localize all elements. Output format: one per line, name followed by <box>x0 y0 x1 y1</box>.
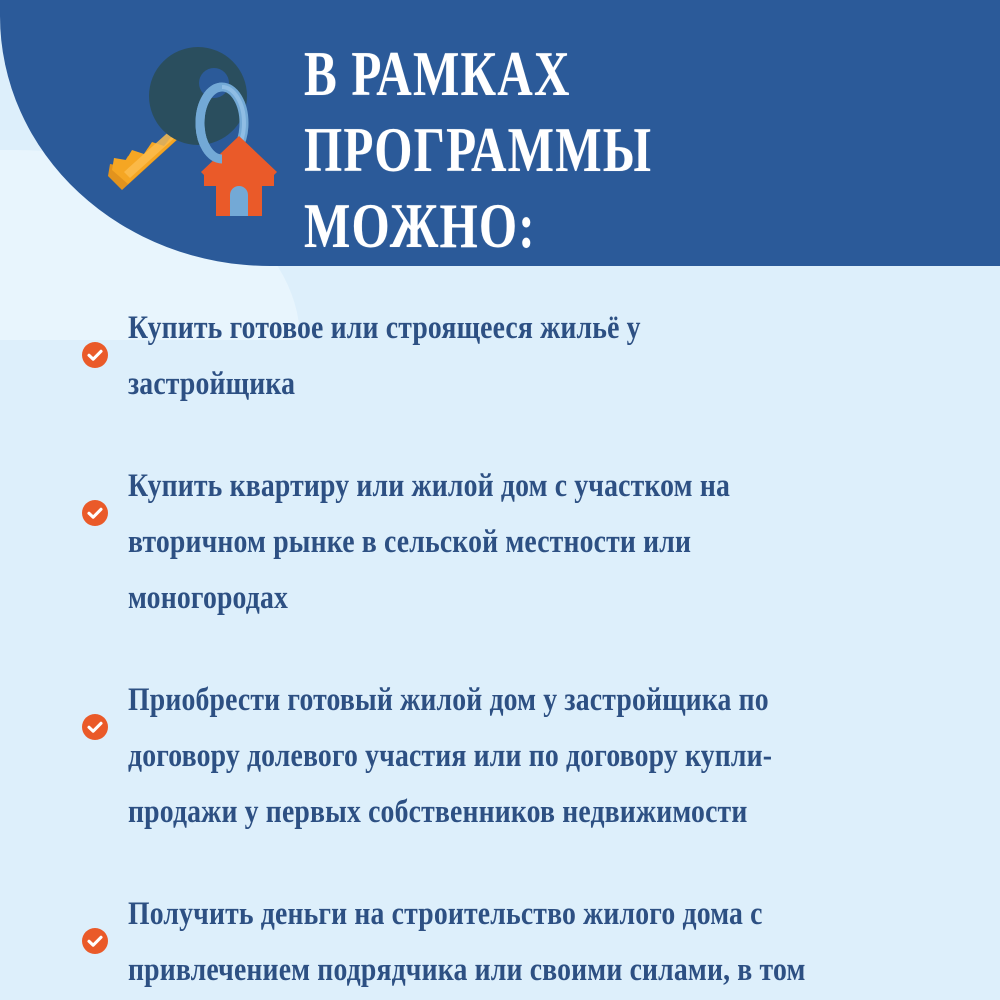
list-item: Получить деньги на строительство жилого … <box>0 886 1000 1000</box>
check-circle-icon <box>82 714 108 740</box>
list-item-label: Купить готовое или строящееся жильё у за… <box>128 300 810 412</box>
list-item: Приобрести готовый жилой дом у застройщи… <box>0 672 1000 840</box>
list-item-label: Купить квартиру или жилой дом с участком… <box>128 458 810 626</box>
list-item: Купить готовое или строящееся жильё у за… <box>0 300 1000 412</box>
page-title: В рамках программы можно: <box>304 36 811 264</box>
list-item: Купить квартиру или жилой дом с участком… <box>0 458 1000 626</box>
poster-root: В рамках программы можно: Купить готовое… <box>0 0 1000 1000</box>
benefits-list: Купить готовое или строящееся жильё у за… <box>0 300 1000 1000</box>
check-circle-icon <box>82 500 108 526</box>
header-content: В рамках программы можно: <box>0 0 1000 266</box>
list-item-label: Получить деньги на строительство жилого … <box>128 886 810 1000</box>
list-item-label: Приобрести готовый жилой дом у застройщи… <box>128 672 810 840</box>
check-circle-icon <box>82 342 108 368</box>
key-with-house-keychain-icon <box>78 36 293 216</box>
check-circle-icon <box>82 928 108 954</box>
